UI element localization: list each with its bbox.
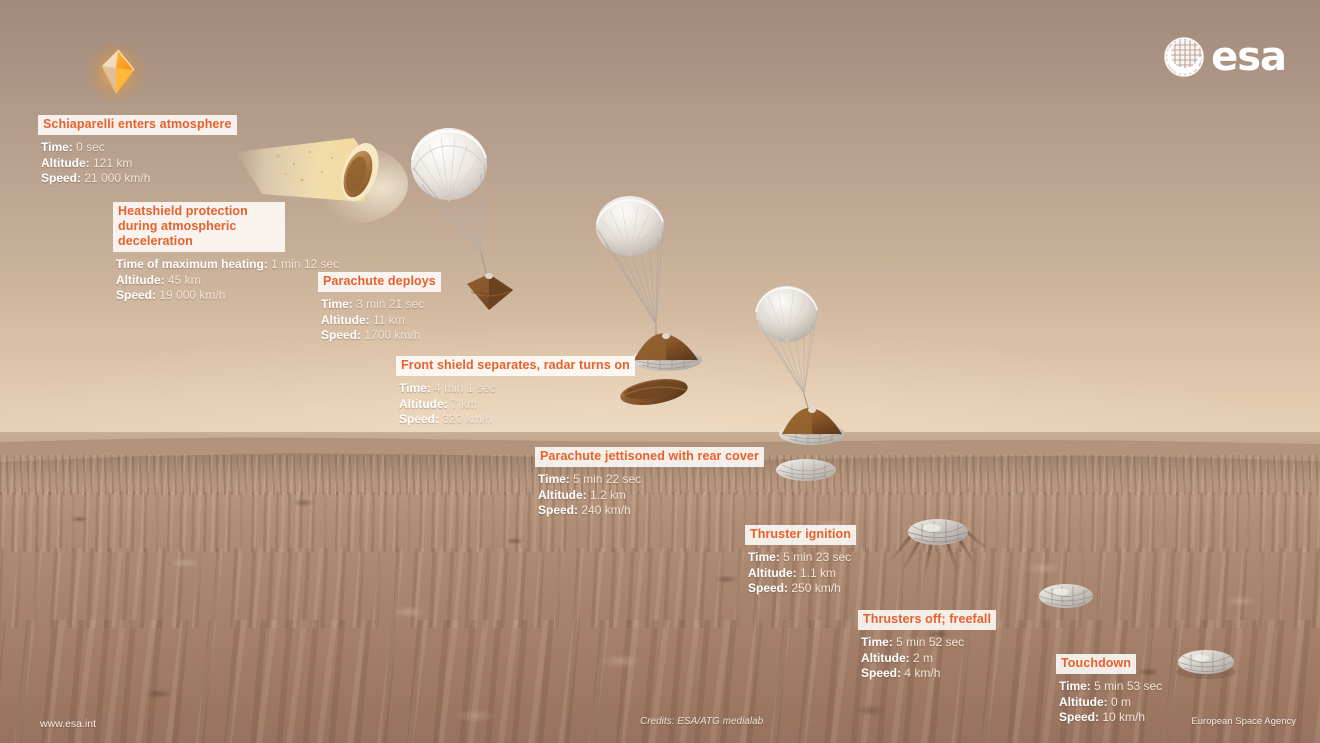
callout-title: Front shield separates, radar turns on	[396, 356, 635, 376]
callout-row-altitude: Altitude: 7 km	[399, 397, 635, 413]
esa-globe-icon	[1161, 34, 1207, 80]
callout-parachute-jettisoned: Parachute jettisoned with rear cover Tim…	[535, 447, 764, 519]
callout-row-altitude: Altitude: 121 km	[41, 156, 237, 172]
callout-rows: Time: 5 min 22 sec Altitude: 1.2 km Spee…	[535, 472, 764, 519]
callout-row-time: Time: 5 min 53 sec	[1059, 679, 1162, 695]
callout-rows: Time: 5 min 53 sec Altitude: 0 m Speed: …	[1056, 679, 1162, 726]
infographic-canvas: esa	[0, 0, 1320, 743]
callout-thruster-ignition: Thruster ignition Time: 5 min 23 sec Alt…	[745, 525, 856, 597]
callout-row-speed: Speed: 240 km/h	[538, 503, 764, 519]
callout-heatshield: Heatshield protection during atmospheric…	[113, 202, 339, 304]
parachute-with-rear-cover	[746, 284, 876, 494]
image-credits: Credits: ESA/ATG medialab	[640, 716, 763, 727]
callout-enters-atmosphere: Schiaparelli enters atmosphere Time: 0 s…	[38, 115, 237, 187]
callout-title: Heatshield protection during atmospheric…	[113, 202, 285, 252]
callout-row-speed: Speed: 250 km/h	[748, 581, 856, 597]
callout-row-speed: Speed: 21 000 km/h	[41, 171, 237, 187]
callout-row-altitude: Altitude: 0 m	[1059, 695, 1162, 711]
callout-row-speed: Speed: 4 km/h	[861, 666, 996, 682]
callout-title: Schiaparelli enters atmosphere	[38, 115, 237, 135]
callout-row-speed: Speed: 10 km/h	[1059, 710, 1162, 726]
callout-row-speed: Speed: 320 km/h	[399, 412, 635, 428]
callout-row-altitude: Altitude: 1.1 km	[748, 566, 856, 582]
callout-front-shield-separates: Front shield separates, radar turns on T…	[396, 356, 635, 428]
callout-title: Thrusters off; freefall	[858, 610, 996, 630]
glowing-entry-capsule	[82, 36, 152, 108]
callout-row-altitude: Altitude: 11 km	[321, 313, 441, 329]
callout-row-speed: Speed: 1700 km/h	[321, 328, 441, 344]
callout-title: Touchdown	[1056, 654, 1136, 674]
callout-row-time: Time: 5 min 23 sec	[748, 550, 856, 566]
callout-row-time: Time: 3 min 21 sec	[321, 297, 441, 313]
callout-thrusters-off: Thrusters off; freefall Time: 5 min 52 s…	[858, 610, 996, 682]
callout-row-time: Time of maximum heating: 1 min 12 sec	[116, 257, 339, 273]
callout-rows: Time: 5 min 23 sec Altitude: 1.1 km Spee…	[745, 550, 856, 597]
callout-rows: Time of maximum heating: 1 min 12 sec Al…	[113, 257, 339, 304]
lander-freefall-low	[1028, 574, 1104, 618]
callout-row-speed: Speed: 19 000 km/h	[116, 288, 339, 304]
callout-rows: Time: 4 min 1 sec Altitude: 7 km Speed: …	[396, 381, 635, 428]
callout-touchdown: Touchdown Time: 5 min 53 sec Altitude: 0…	[1056, 654, 1162, 726]
callout-row-altitude: Altitude: 2 m	[861, 651, 996, 667]
callout-row-time: Time: 5 min 22 sec	[538, 472, 764, 488]
lander-thrusters-firing	[884, 502, 994, 582]
callout-row-time: Time: 0 sec	[41, 140, 237, 156]
lander-touched-down	[1168, 638, 1244, 686]
callout-title: Parachute deploys	[318, 272, 441, 292]
callout-row-altitude: Altitude: 45 km	[116, 273, 339, 289]
esa-logo[interactable]: esa	[1161, 34, 1286, 80]
callout-rows: Time: 3 min 21 sec Altitude: 11 km Speed…	[318, 297, 441, 344]
callout-title: Thruster ignition	[745, 525, 856, 545]
callout-row-altitude: Altitude: 1.2 km	[538, 488, 764, 504]
callout-row-time: Time: 4 min 1 sec	[399, 381, 635, 397]
callout-title: Parachute jettisoned with rear cover	[535, 447, 764, 467]
agency-name: European Space Agency	[1191, 716, 1296, 727]
esa-website-url[interactable]: www.esa.int	[40, 718, 96, 730]
callout-parachute-deploys: Parachute deploys Time: 3 min 21 sec Alt…	[318, 272, 441, 344]
callout-rows: Time: 5 min 52 sec Altitude: 2 m Speed: …	[858, 635, 996, 682]
callout-rows: Time: 0 sec Altitude: 121 km Speed: 21 0…	[38, 140, 237, 187]
callout-row-time: Time: 5 min 52 sec	[861, 635, 996, 651]
esa-wordmark: esa	[1211, 37, 1286, 77]
lander-released	[776, 459, 836, 481]
